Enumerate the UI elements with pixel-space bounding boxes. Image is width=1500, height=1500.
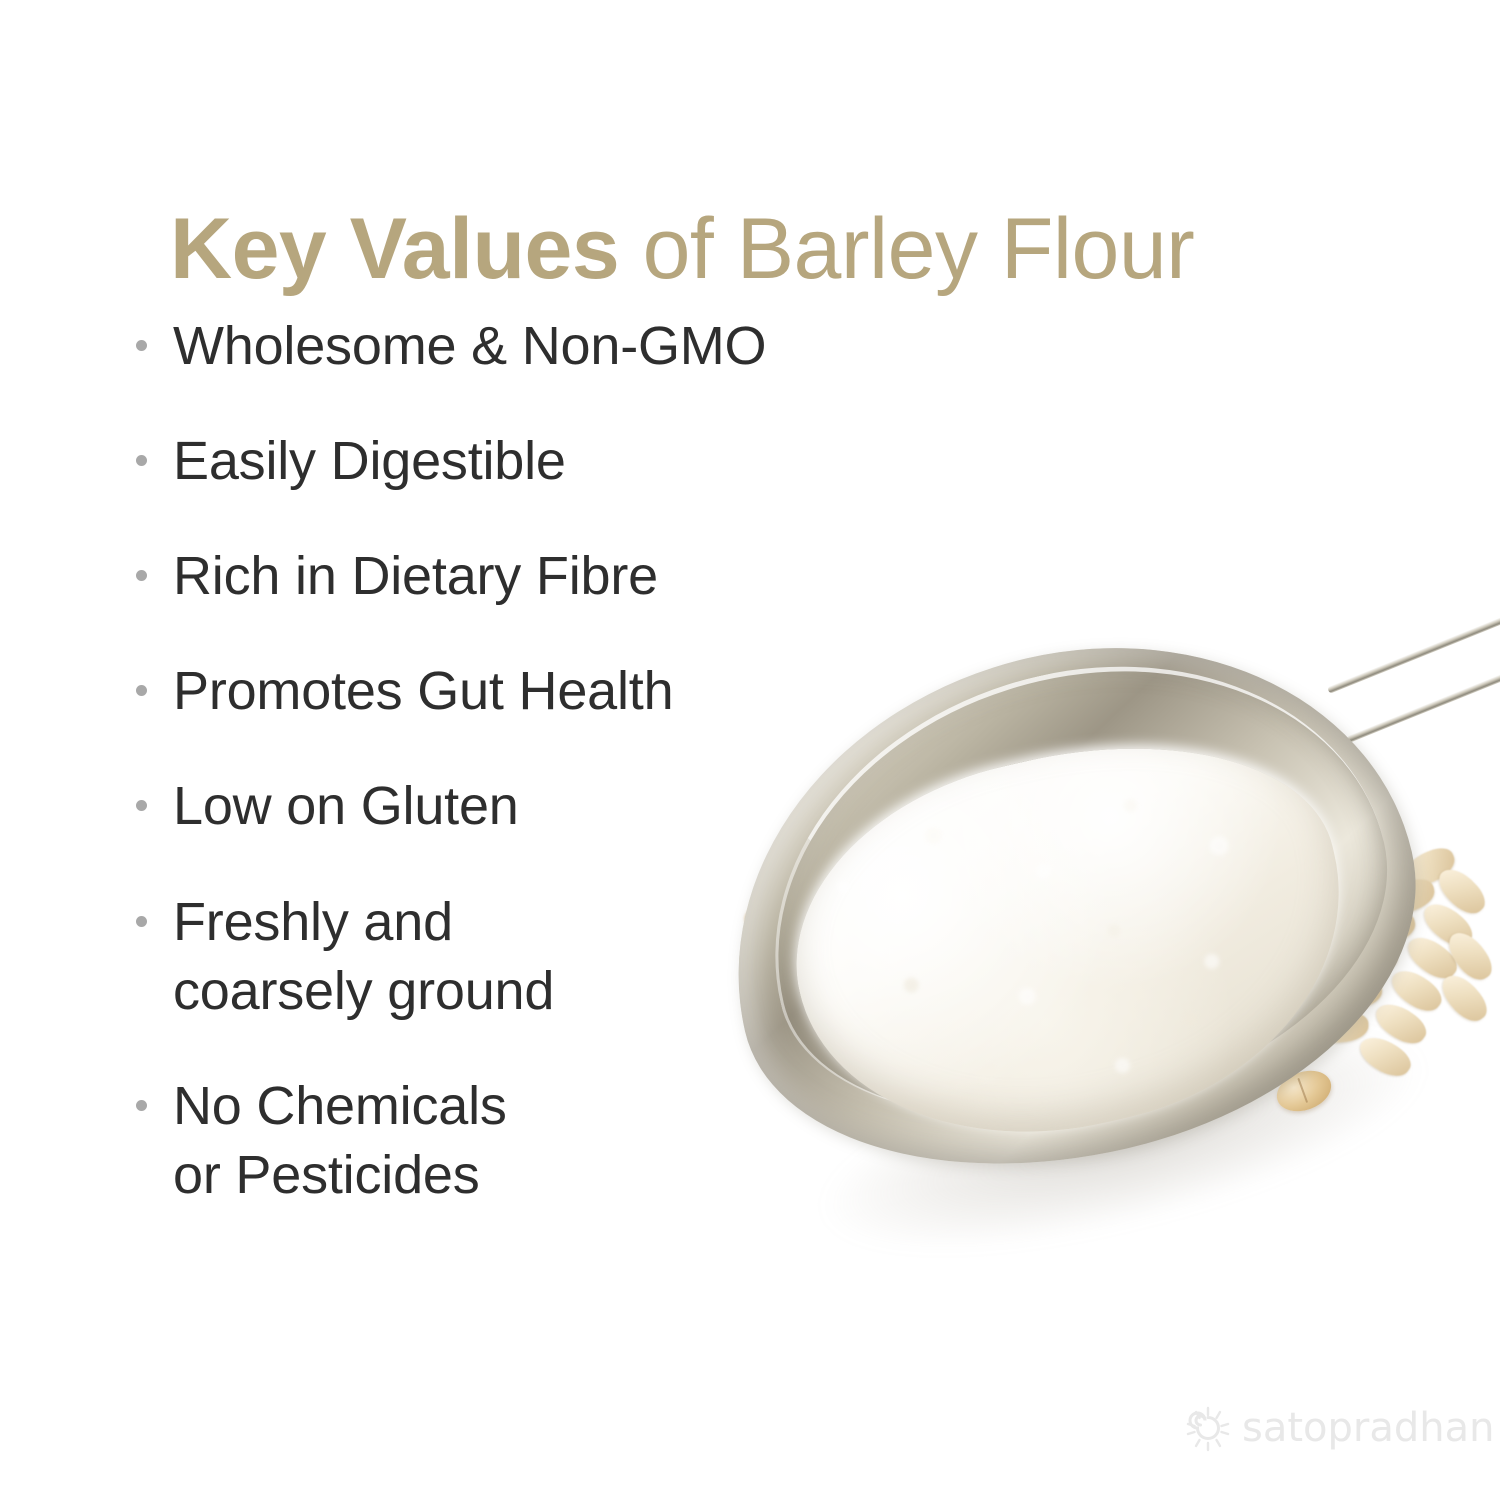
list-item-label: No Chemicals or Pesticides [173,1072,507,1210]
bullet-dot-icon [136,1100,147,1111]
watermark: satopradhan [1182,1402,1494,1454]
list-item-label: Promotes Gut Health [173,657,673,726]
page-title-light: of Barley Flour [619,201,1194,297]
bullet-dot-icon [136,340,147,351]
bullet-dot-icon [136,455,147,466]
page-title: Key Values of Barley Flour [170,206,1194,292]
bullet-dot-icon [136,800,147,811]
bullet-dot-icon [136,685,147,696]
product-photo [700,600,1500,1320]
page-title-strong: Key Values [170,201,619,297]
list-item-label: Freshly and coarsely ground [173,888,554,1026]
list-item-label: Low on Gluten [173,772,519,841]
list-item: Wholesome & Non-GMO [136,312,836,381]
key-values-infographic: Key Values of Barley Flour Wholesome & N… [0,0,1500,1500]
list-item-label: Easily Digestible [173,427,566,496]
bullet-dot-icon [136,916,147,927]
bullet-dot-icon [136,570,147,581]
sun-spiral-icon [1182,1402,1234,1454]
watermark-brand: satopradhan [1242,1405,1494,1451]
list-item-label: Wholesome & Non-GMO [173,312,766,381]
list-item: Easily Digestible [136,427,836,496]
list-item-label: Rich in Dietary Fibre [173,542,658,611]
